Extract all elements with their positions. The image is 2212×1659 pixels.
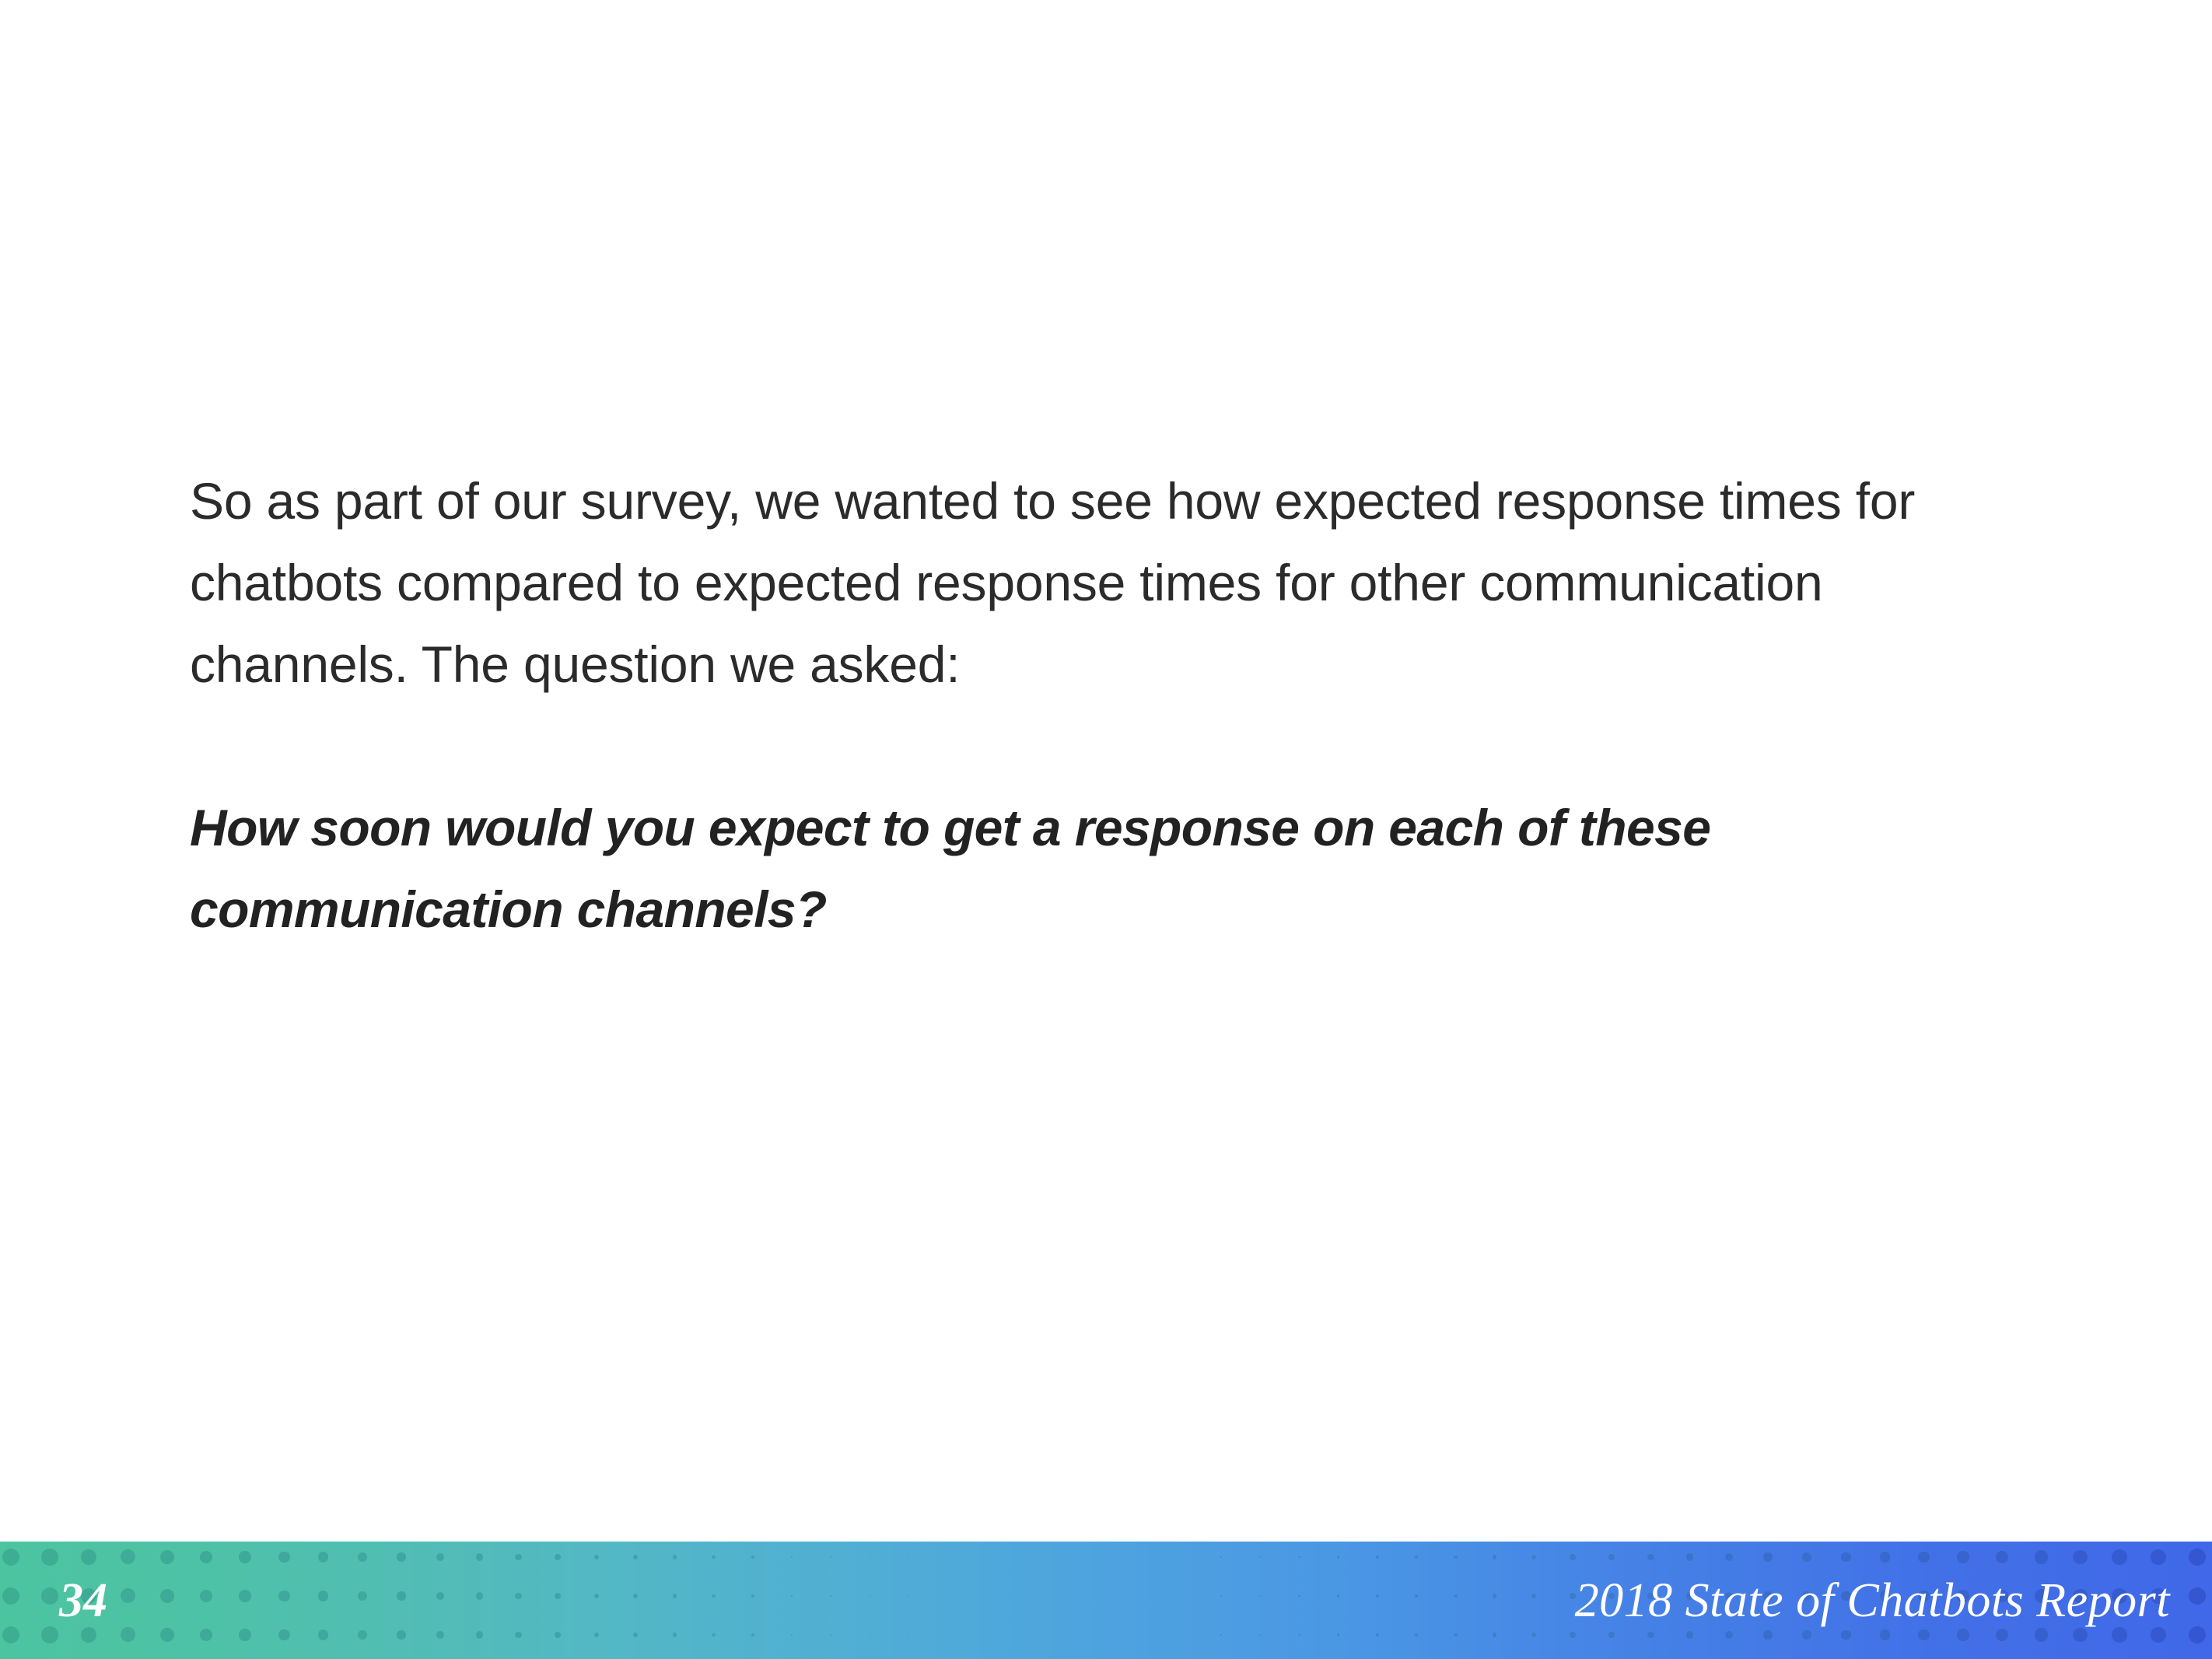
footer-dot [870, 1595, 871, 1597]
footer-dot [318, 1591, 328, 1601]
footer-dot [908, 1556, 909, 1557]
footer-dot [2, 1549, 20, 1566]
footer-dot [515, 1632, 521, 1638]
footer-dot [476, 1592, 483, 1599]
footer-dot [200, 1629, 213, 1642]
footer-dot [2189, 1626, 2206, 1643]
footer-dot [712, 1633, 715, 1636]
footer-dot [1725, 1553, 1733, 1561]
footer-dot [358, 1591, 367, 1601]
slide-footer-band: 34 2018 State of Chatbots Report [0, 1542, 2212, 1659]
footer-dot [1376, 1594, 1379, 1598]
footer-dot [712, 1594, 715, 1598]
footer-dot [633, 1633, 638, 1637]
footer-dot [594, 1594, 600, 1599]
footer-dot [1298, 1556, 1300, 1558]
footer-dot [1259, 1556, 1261, 1558]
footer-dot [318, 1552, 328, 1562]
body-paragraph: So as part of our survey, we wanted to s… [190, 460, 1979, 705]
footer-dot [1763, 1630, 1772, 1639]
footer-dot [1608, 1554, 1615, 1560]
footer-dot [1686, 1631, 1693, 1638]
footer-dot [1415, 1594, 1418, 1598]
footer-dot [1337, 1594, 1339, 1597]
footer-dot [515, 1554, 521, 1560]
footer-dot [633, 1555, 638, 1559]
footer-dot [1531, 1555, 1536, 1559]
footer-dot [1957, 1551, 1969, 1563]
footer-dot [278, 1591, 289, 1601]
footer-dot [1608, 1632, 1615, 1638]
footer-dot [830, 1595, 831, 1597]
footer-dot [318, 1629, 328, 1640]
footer-dot [200, 1551, 213, 1564]
footer-dot [1493, 1633, 1497, 1637]
footer-dot [830, 1556, 831, 1558]
footer-dot [1337, 1556, 1339, 1558]
footer-dot [239, 1590, 251, 1602]
footer-dot [160, 1628, 174, 1642]
footer-dot [41, 1626, 58, 1643]
footer-dot [1531, 1633, 1536, 1637]
footer-dot [160, 1550, 174, 1564]
footer-dot [555, 1554, 561, 1560]
footer-dot [397, 1591, 405, 1600]
footer-dot [1570, 1554, 1575, 1559]
footer-dot [791, 1634, 793, 1636]
footer-dot [712, 1556, 715, 1559]
page-number: 34 [59, 1577, 107, 1625]
footer-dot [160, 1589, 174, 1603]
footer-dot [2112, 1627, 2127, 1643]
footer-dot [1763, 1552, 1772, 1561]
footer-dot [41, 1587, 58, 1604]
footer-dot [1996, 1551, 2009, 1564]
footer-dot [121, 1549, 135, 1564]
footer-dot [1220, 1634, 1221, 1635]
footer-dot [436, 1592, 444, 1600]
footer-dot [791, 1556, 793, 1559]
footer-dot [791, 1595, 793, 1598]
footer-dot [1259, 1634, 1261, 1636]
footer-dot [1918, 1552, 1930, 1563]
footer-dot [2112, 1549, 2127, 1565]
footer-dot [358, 1552, 367, 1562]
footer-dot [278, 1629, 289, 1640]
footer-dot [1880, 1629, 1891, 1640]
footer-dot [436, 1553, 444, 1561]
footer-dot [673, 1555, 677, 1559]
footer-dot [476, 1631, 483, 1638]
footer-dot [1454, 1633, 1458, 1637]
footer-dot [1725, 1631, 1733, 1639]
footer-dot [1454, 1594, 1458, 1598]
footer-dot [81, 1627, 96, 1643]
footer-dot [121, 1627, 135, 1642]
slide-canvas: So as part of our survey, we wanted to s… [0, 0, 2212, 1659]
footer-dot [2035, 1550, 2049, 1564]
footer-dot [1493, 1594, 1497, 1598]
footer-dot [2073, 1628, 2088, 1643]
footer-dot [1996, 1629, 2009, 1642]
footer-dot [1298, 1634, 1300, 1636]
footer-dot [673, 1633, 677, 1636]
footer-dot [1454, 1556, 1458, 1559]
footer-dot [397, 1552, 405, 1561]
footer-dot [1957, 1629, 1969, 1641]
footer-dot [1298, 1595, 1300, 1597]
footer-dot [2035, 1628, 2049, 1642]
footer-dot [870, 1556, 871, 1558]
footer-dot [2, 1626, 20, 1644]
footer-dot [1570, 1632, 1575, 1637]
footer-dot [1337, 1633, 1339, 1636]
footer-dot [751, 1633, 754, 1636]
footer-dot [555, 1632, 561, 1638]
footer-dot [830, 1634, 831, 1636]
footer-dot [673, 1594, 677, 1598]
footer-dot [436, 1631, 444, 1639]
footer-dot [555, 1593, 561, 1599]
footer-dot [1531, 1594, 1536, 1598]
footer-dot [1415, 1556, 1418, 1559]
footer-dot [1376, 1633, 1379, 1636]
footer-dot [1686, 1553, 1693, 1560]
footer-dot [1415, 1633, 1418, 1636]
footer-dot [1841, 1552, 1851, 1563]
footer-dot [1802, 1552, 1811, 1562]
footer-dot [358, 1630, 367, 1640]
footer-dot [397, 1630, 405, 1639]
footer-dot [1802, 1630, 1811, 1640]
footer-dot [1918, 1629, 1930, 1641]
footer-dot [41, 1549, 58, 1565]
footer-dot [2189, 1549, 2206, 1566]
footer-dot [1259, 1595, 1261, 1597]
footer-dot [239, 1551, 251, 1563]
footer-dot [2151, 1549, 2167, 1566]
footer-dot [1220, 1556, 1221, 1557]
footer-dot [278, 1552, 289, 1563]
survey-question-text: How soon would you expect to get a respo… [190, 787, 1979, 950]
footer-dot [751, 1556, 754, 1559]
footer-dot [1493, 1555, 1497, 1559]
footer-dot [515, 1593, 521, 1599]
slide-body-content: So as part of our survey, we wanted to s… [190, 460, 1979, 950]
footer-dot [121, 1588, 135, 1603]
footer-dot [870, 1634, 871, 1636]
footer-dot [2, 1587, 20, 1605]
footer-dot [1376, 1556, 1379, 1559]
footer-dot [476, 1553, 483, 1560]
footer-dot [633, 1594, 638, 1598]
footer-dot [200, 1590, 213, 1603]
footer-dot [239, 1629, 251, 1641]
footer-dot [1647, 1554, 1654, 1561]
footer-dot [2073, 1550, 2088, 1565]
footer-dot [2189, 1587, 2206, 1605]
footer-dot [1841, 1630, 1851, 1640]
footer-dot [908, 1595, 909, 1596]
footer-dot [908, 1634, 909, 1635]
report-title: 2018 State of Chatbots Report [1575, 1577, 2170, 1625]
footer-dot [594, 1555, 600, 1560]
footer-dot [1647, 1632, 1654, 1639]
footer-dot [1220, 1595, 1221, 1596]
footer-dot [1880, 1552, 1891, 1563]
footer-dot [2151, 1627, 2167, 1643]
footer-dot [751, 1594, 754, 1598]
footer-dot [81, 1549, 96, 1565]
footer-dot [594, 1633, 600, 1638]
